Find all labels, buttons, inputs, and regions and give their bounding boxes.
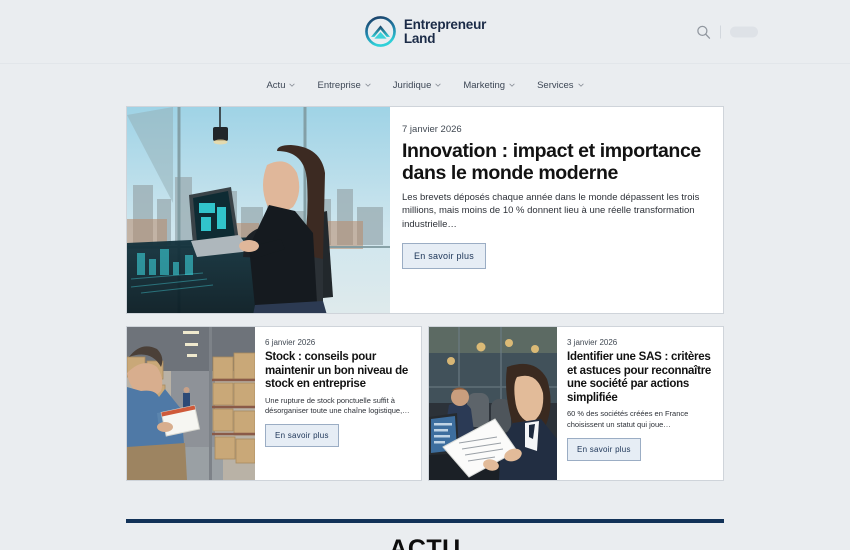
nav-item-entreprise[interactable]: Entreprise	[317, 80, 370, 91]
article-card-body: 6 janvier 2026 Stock : conseils pour mai…	[255, 327, 421, 480]
article-card-date: 3 janvier 2026	[567, 338, 713, 347]
nav-item-label: Entreprise	[317, 80, 360, 91]
site-header: Entrepreneur Land	[0, 0, 850, 64]
section-title: ACTU	[126, 535, 724, 550]
chevron-down-icon	[509, 83, 515, 87]
businesswoman-documents-illustration	[429, 327, 557, 480]
chevron-down-icon	[578, 83, 584, 87]
hero-article-title[interactable]: Innovation : impact et importance dans l…	[402, 141, 707, 185]
section-divider-rule	[126, 519, 724, 523]
site-logo[interactable]: Entrepreneur Land	[364, 15, 486, 48]
brand-wordmark: Entrepreneur Land	[404, 18, 486, 46]
hero-article-image	[127, 107, 390, 313]
account-pill-button[interactable]	[730, 26, 758, 37]
chevron-down-icon	[365, 83, 371, 87]
content-container: 7 janvier 2026 Innovation : impact et im…	[126, 106, 724, 550]
nav-item-label: Marketing	[463, 80, 505, 91]
article-card-title[interactable]: Stock : conseils pour maintenir un bon n…	[265, 351, 411, 392]
article-card-date: 6 janvier 2026	[265, 338, 411, 347]
article-card-title[interactable]: Identifier une SAS : critères et astuces…	[567, 351, 713, 405]
actu-section-header: ACTU	[126, 519, 724, 550]
nav-item-juridique[interactable]: Juridique	[393, 80, 442, 91]
chevron-down-icon	[289, 83, 295, 87]
article-read-more-button[interactable]: En savoir plus	[567, 438, 641, 461]
article-card-excerpt: 60 % des sociétés créées en France chois…	[567, 409, 713, 430]
article-card-row: 6 janvier 2026 Stock : conseils pour mai…	[126, 326, 724, 481]
nav-item-label: Juridique	[393, 80, 432, 91]
header-divider	[720, 25, 721, 38]
article-card-sas[interactable]: 3 janvier 2026 Identifier une SAS : crit…	[428, 326, 724, 481]
office-laptop-illustration	[127, 107, 390, 313]
brand-line-1: Entrepreneur	[404, 18, 486, 32]
hero-article-date: 7 janvier 2026	[402, 124, 707, 135]
article-card-excerpt: Une rupture de stock ponctuelle suffit à…	[265, 396, 411, 417]
article-card-body: 3 janvier 2026 Identifier une SAS : crit…	[557, 327, 723, 480]
hero-article-excerpt: Les brevets déposés chaque année dans le…	[402, 191, 707, 231]
hero-read-more-button[interactable]: En savoir plus	[402, 243, 486, 269]
article-card-stock[interactable]: 6 janvier 2026 Stock : conseils pour mai…	[126, 326, 422, 481]
search-icon[interactable]	[696, 24, 711, 39]
nav-item-label: Services	[537, 80, 573, 91]
article-card-image	[429, 327, 557, 480]
entrepreneur-land-logo-icon	[364, 15, 397, 48]
article-read-more-button[interactable]: En savoir plus	[265, 424, 339, 447]
brand-line-2: Land	[404, 32, 486, 46]
nav-item-actu[interactable]: Actu	[266, 80, 295, 91]
warehouse-inventory-illustration	[127, 327, 255, 480]
header-actions	[696, 24, 758, 39]
nav-item-services[interactable]: Services	[537, 80, 583, 91]
chevron-down-icon	[435, 83, 441, 87]
nav-item-label: Actu	[266, 80, 285, 91]
nav-item-marketing[interactable]: Marketing	[463, 80, 515, 91]
article-card-image	[127, 327, 255, 480]
hero-article-body: 7 janvier 2026 Innovation : impact et im…	[390, 107, 723, 313]
page-root: Entrepreneur Land Actu Entreprise Juridi…	[0, 0, 850, 550]
main-navigation: Actu Entreprise Juridique Marketing Serv…	[0, 64, 850, 106]
hero-article-card[interactable]: 7 janvier 2026 Innovation : impact et im…	[126, 106, 724, 314]
